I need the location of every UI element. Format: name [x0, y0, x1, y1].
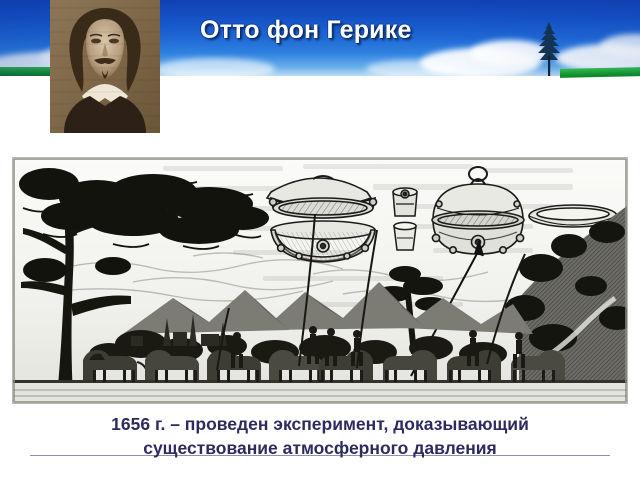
experiment-illustration: [12, 157, 628, 404]
caption-line-1: 1656 г. – проведен эксперимент, доказыва…: [20, 412, 620, 436]
grass-strip-right: [560, 67, 640, 78]
conifer-tree-icon: [536, 20, 562, 76]
caption-line-2: существование атмосферного давления: [20, 436, 620, 460]
portrait-image: [50, 0, 160, 133]
page-title: Отто фон Герике: [200, 16, 412, 45]
caption-text: 1656 г. – проведен эксперимент, доказыва…: [20, 412, 620, 460]
cloud-icon: [155, 58, 275, 78]
